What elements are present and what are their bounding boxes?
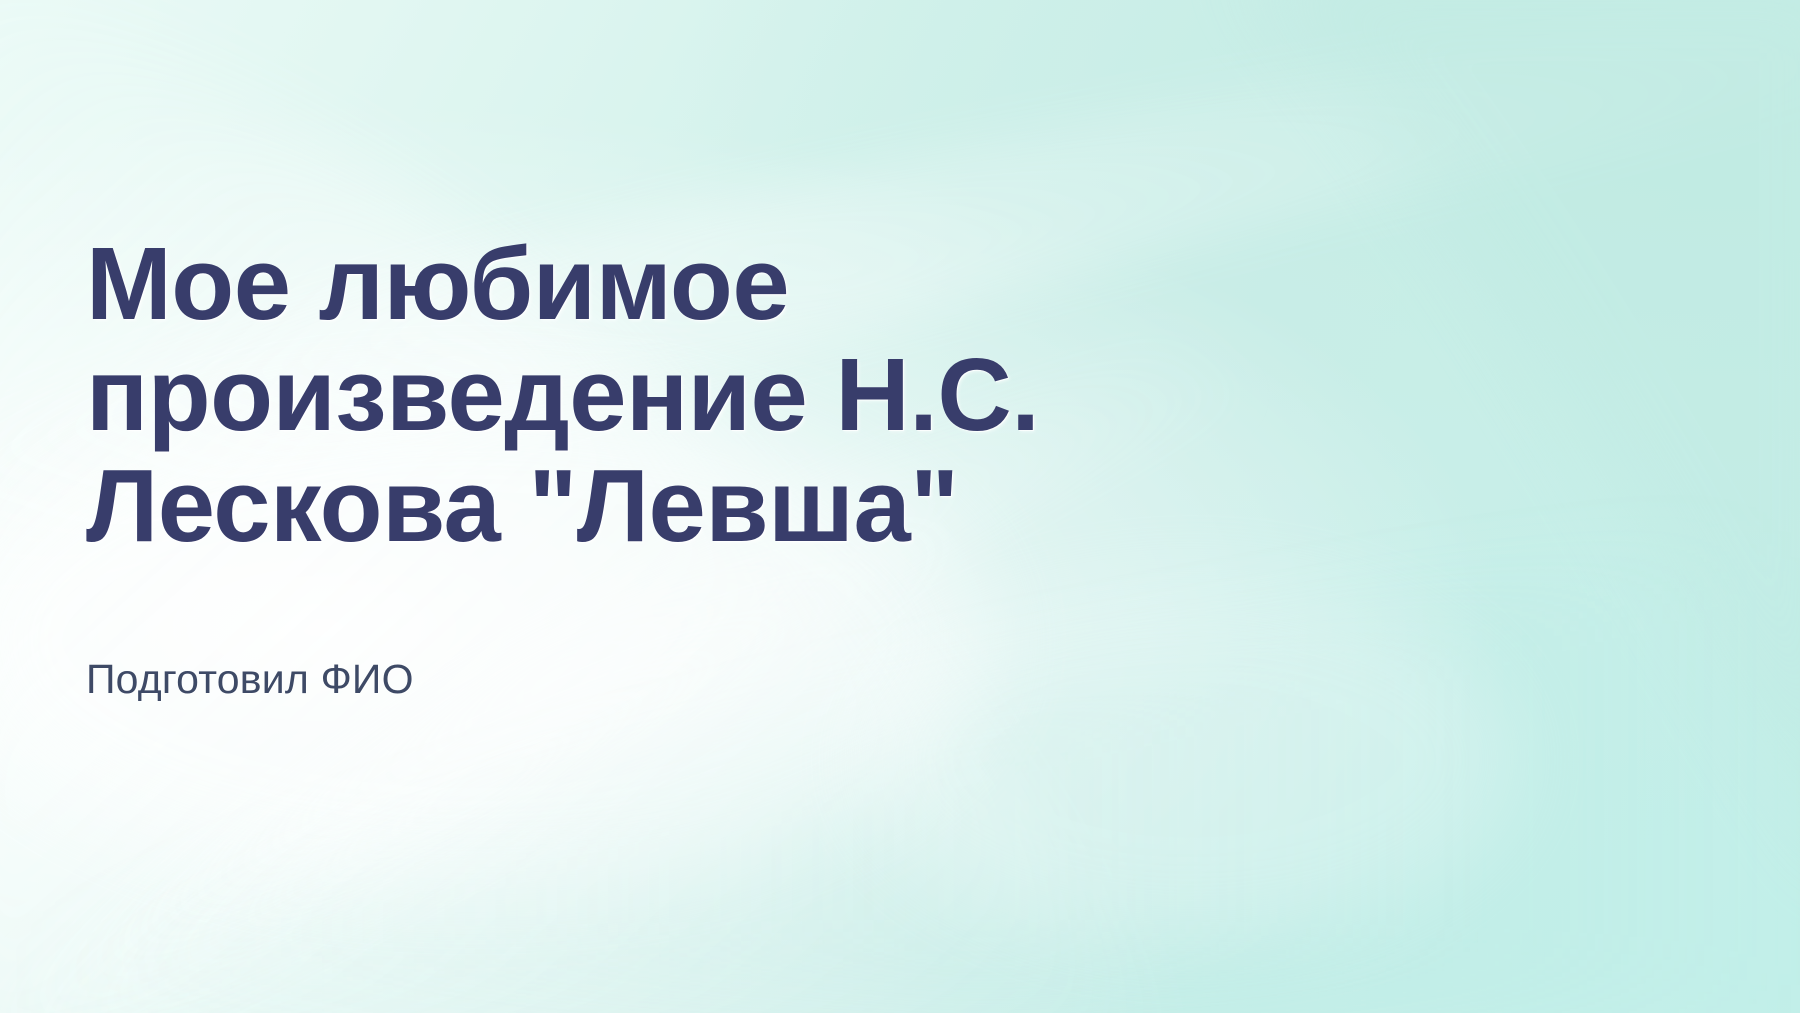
slide-subtitle-author: Подготовил ФИО [86, 562, 1266, 704]
page-title: Мое любимое произведение Н.С. Лескова "Л… [86, 228, 1266, 562]
title-slide: Мое любимое произведение Н.С. Лескова "Л… [0, 0, 1800, 1013]
slide-content: Мое любимое произведение Н.С. Лескова "Л… [86, 228, 1266, 704]
